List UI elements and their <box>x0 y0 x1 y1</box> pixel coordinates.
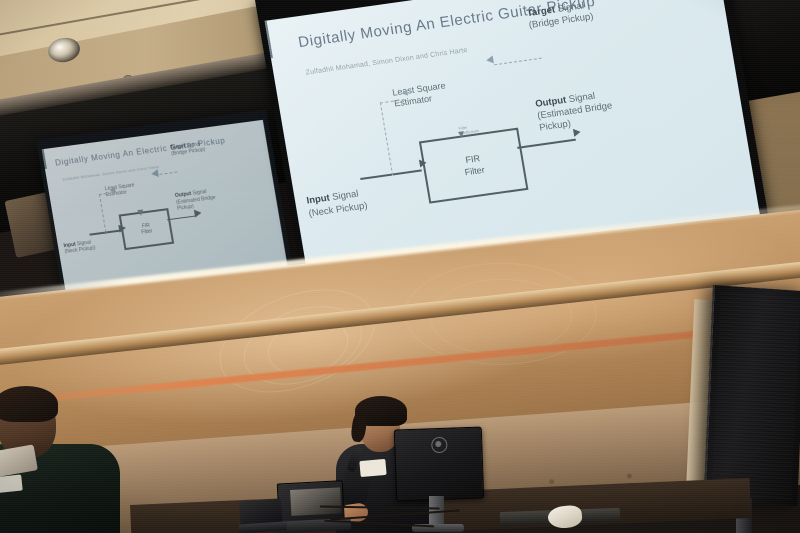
lecture-hall-photo: Digitally Moving An Electric Guitar Pick… <box>0 0 800 533</box>
target-dashed-line <box>494 58 542 66</box>
output-arrowhead <box>573 128 581 137</box>
fir-filter-block: FIR Filter <box>118 208 174 250</box>
presenter-name-badge <box>359 459 386 477</box>
target-arrowhead <box>486 55 494 64</box>
wall-bolt <box>549 479 554 484</box>
input-signal-label: Input Signal (Neck Pickup) <box>306 188 369 221</box>
attendee-name-badge <box>0 474 23 493</box>
input-arrowhead <box>118 224 126 233</box>
dell-logo-icon <box>431 437 448 454</box>
input-arrowhead <box>419 159 427 168</box>
second-laptop <box>237 498 285 533</box>
cable <box>324 520 434 528</box>
coefficients-arrowhead <box>458 131 465 138</box>
cable-bundle <box>319 497 470 533</box>
wall-bolt <box>627 473 632 478</box>
slide-authors: Zulfadhli Mohamad, Simon Dixon and Chris… <box>305 47 468 77</box>
attendee-hair <box>0 386 58 422</box>
target-arrowhead <box>150 169 158 178</box>
coefficients-arrowhead <box>137 209 144 216</box>
fir-filter-block: FIR Filter <box>419 128 528 204</box>
foreground-attendee <box>0 392 130 533</box>
speaker-grill <box>712 291 800 499</box>
feedback-dashed-vertical <box>380 102 393 175</box>
input-signal-label: Input Signal (Neck Pickup) <box>63 239 96 256</box>
feedback-arrowhead <box>109 187 116 194</box>
output-arrow <box>166 215 195 220</box>
least-square-estimator-label: Least Square Estimator <box>392 80 449 111</box>
feedback-dashed-vertical <box>99 194 107 233</box>
feedback-arrowhead <box>401 90 408 97</box>
cable <box>330 509 460 520</box>
output-arrowhead <box>194 209 202 218</box>
pa-speaker <box>703 285 800 506</box>
output-signal-sub-2: Pickup) <box>177 204 195 212</box>
dell-monitor <box>394 426 484 501</box>
fir-block-label-2: Filter <box>464 164 486 178</box>
output-arrow <box>517 139 576 149</box>
monitor-screen <box>394 426 484 501</box>
slide-authors: Zulfadhli Mohamad, Simon Dixon and Chris… <box>62 164 159 182</box>
cable <box>320 505 440 509</box>
fir-block-label-2: Filter <box>141 228 153 236</box>
